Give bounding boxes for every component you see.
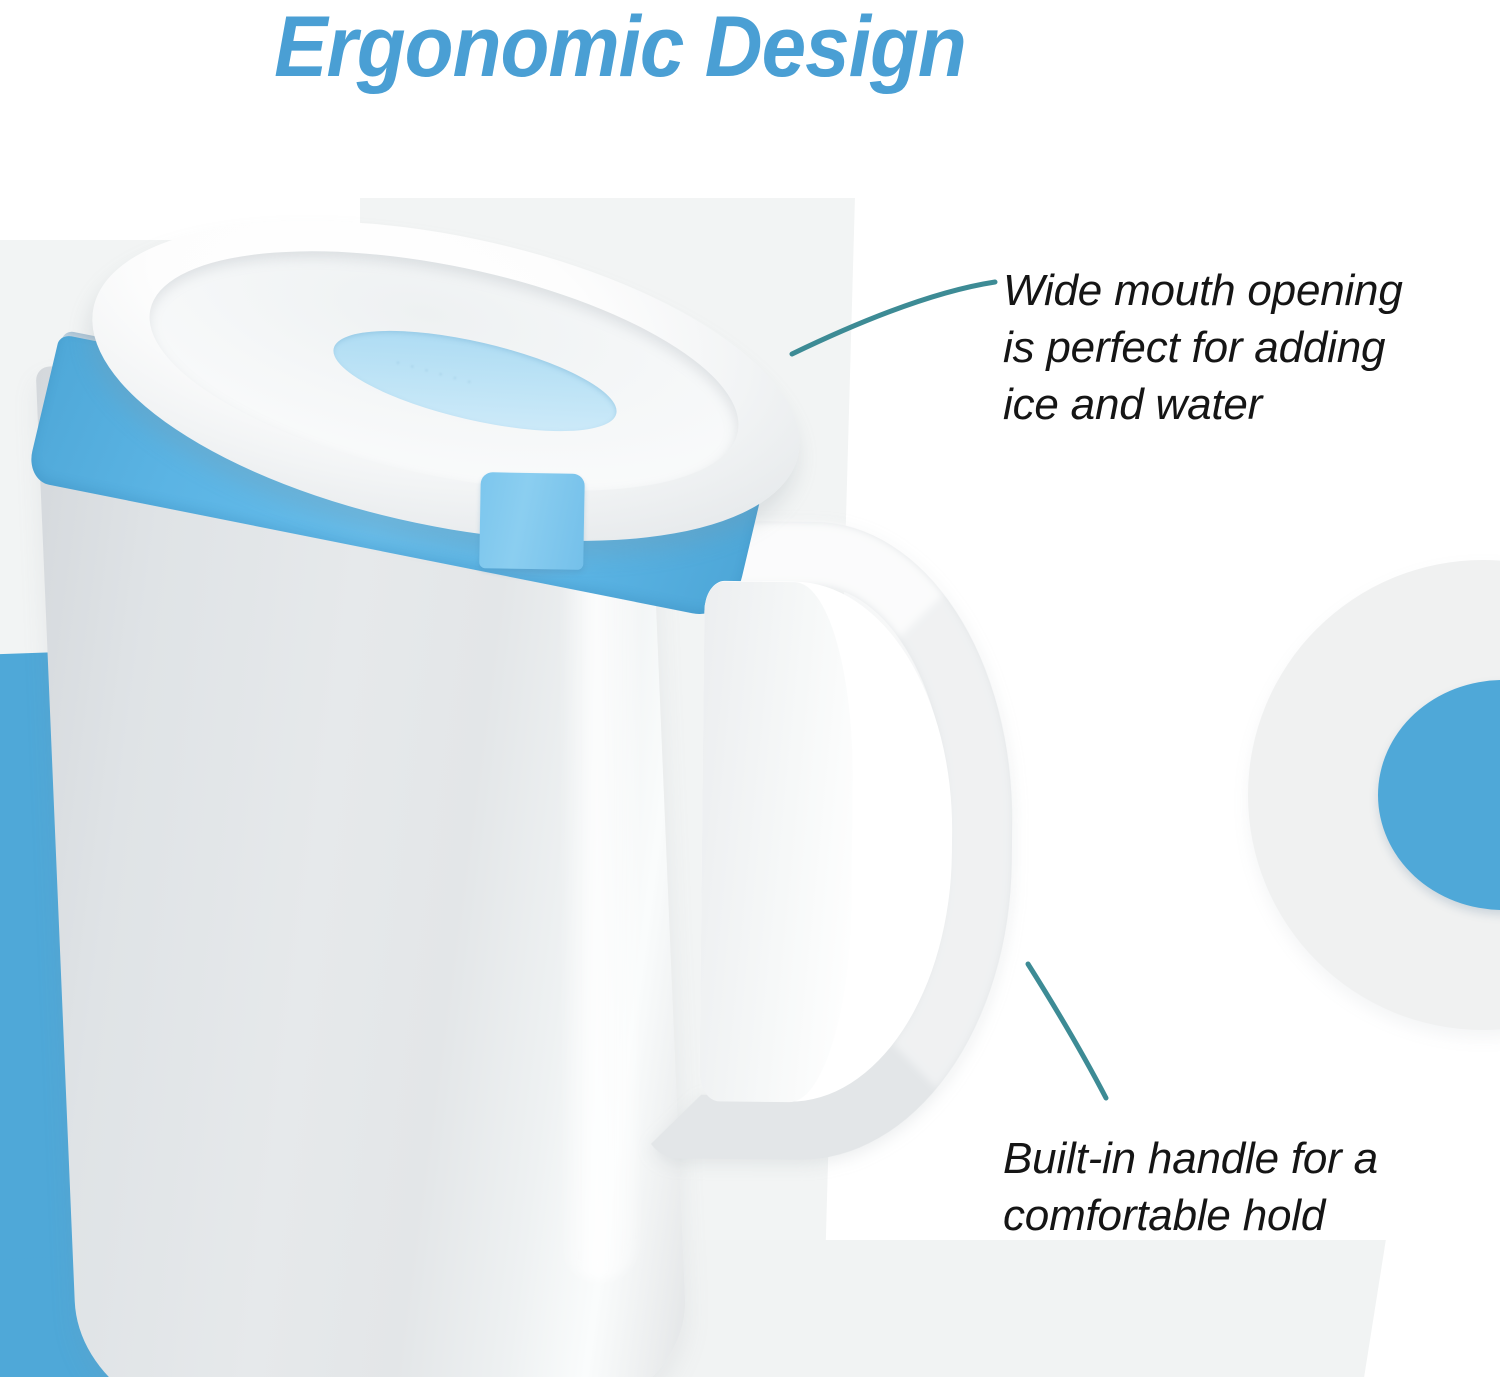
- callout-text-handle: Built-in handle for a comfortable hold: [1003, 1130, 1423, 1244]
- mug-lid-slider-tab[interactable]: [479, 472, 585, 570]
- page-title: Ergonomic Design: [43, 2, 1196, 92]
- main-product-mug: · · · · · ·: [40, 230, 1080, 1360]
- infographic-canvas: · · · · · · Ergonomic Design Wide mouth …: [0, 0, 1500, 1377]
- mug-handle-inner-shadow: [699, 581, 854, 1103]
- mug-lid-emboss-text: · · · · · ·: [394, 357, 476, 390]
- callout-leader-line-handle: [990, 940, 1140, 1110]
- callout-text-wide-mouth: Wide mouth opening is perfect for adding…: [1003, 262, 1428, 434]
- callout-leader-line-wide-mouth: [790, 248, 1010, 368]
